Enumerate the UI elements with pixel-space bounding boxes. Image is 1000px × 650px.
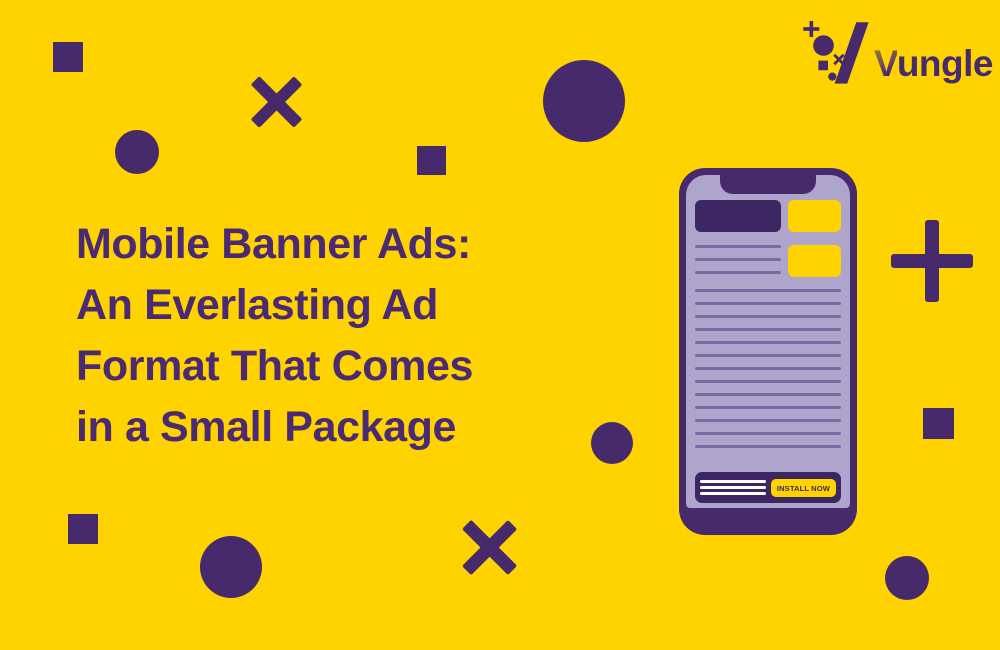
vungle-logo: Vungle xyxy=(796,16,986,90)
app-text-line xyxy=(695,445,841,448)
vungle-wordmark: Vungle xyxy=(874,45,993,82)
banner-ad-copy-line xyxy=(700,486,766,489)
vungle-slash-mark-icon xyxy=(796,16,870,90)
phone-mockup: INSTALL NOW xyxy=(679,168,857,535)
app-text-line xyxy=(695,328,841,331)
app-header-row xyxy=(695,200,841,284)
app-text-line xyxy=(695,258,781,261)
app-text-line xyxy=(695,302,841,305)
page-title: Mobile Banner Ads: An Everlasting Ad For… xyxy=(76,214,596,458)
circle-upper-left-icon xyxy=(115,130,159,174)
app-text-line xyxy=(695,432,841,435)
phone-notch xyxy=(720,175,816,194)
square-lower-left-icon xyxy=(68,514,98,544)
headline-line-3: Format That Comes xyxy=(76,336,596,397)
headline-line-2: An Everlasting Ad xyxy=(76,275,596,336)
circle-large-top-icon xyxy=(543,60,625,142)
app-header-left xyxy=(695,200,781,284)
circle-bottom-left-icon xyxy=(200,536,262,598)
banner-ad-copy-line xyxy=(700,480,766,483)
app-text-line xyxy=(695,406,841,409)
app-text-line xyxy=(695,315,841,318)
app-cta-block-1[interactable] xyxy=(788,200,841,232)
mobile-banner-ad[interactable]: INSTALL NOW xyxy=(695,472,841,503)
phone-screen: INSTALL NOW xyxy=(686,175,850,508)
app-text-line xyxy=(695,367,841,370)
wordmark-initial: V xyxy=(874,43,897,84)
banner-ad-copy-line xyxy=(700,492,766,495)
wordmark-remainder: ungle xyxy=(897,43,993,84)
x-bottom-mid-icon xyxy=(458,515,522,579)
plus-right-icon xyxy=(891,220,973,302)
app-text-line xyxy=(695,245,781,248)
app-text-line xyxy=(695,341,841,344)
square-upper-mid-icon xyxy=(417,146,446,175)
square-right-icon xyxy=(923,408,954,439)
app-text-line xyxy=(695,289,841,292)
app-text-line xyxy=(695,419,841,422)
app-text-line xyxy=(695,271,781,274)
app-cta-block-2[interactable] xyxy=(788,245,841,277)
headline-line-1: Mobile Banner Ads: xyxy=(76,214,596,275)
app-text-line xyxy=(695,354,841,357)
app-body-lines xyxy=(695,289,841,448)
circle-bottom-right-icon xyxy=(885,556,929,600)
x-upper-left-icon xyxy=(247,72,307,132)
circle-mid-right-icon xyxy=(591,422,633,464)
banner-canvas: Mobile Banner Ads: An Everlasting Ad For… xyxy=(0,0,1000,650)
install-now-button[interactable]: INSTALL NOW xyxy=(771,479,836,497)
app-title-block xyxy=(695,200,781,232)
square-top-left-icon xyxy=(53,42,83,72)
app-text-line xyxy=(695,380,841,383)
app-header-right xyxy=(788,200,841,277)
app-text-line xyxy=(695,393,841,396)
headline-line-4: in a Small Package xyxy=(76,397,596,458)
app-content xyxy=(695,200,841,458)
banner-ad-copy xyxy=(700,477,771,499)
